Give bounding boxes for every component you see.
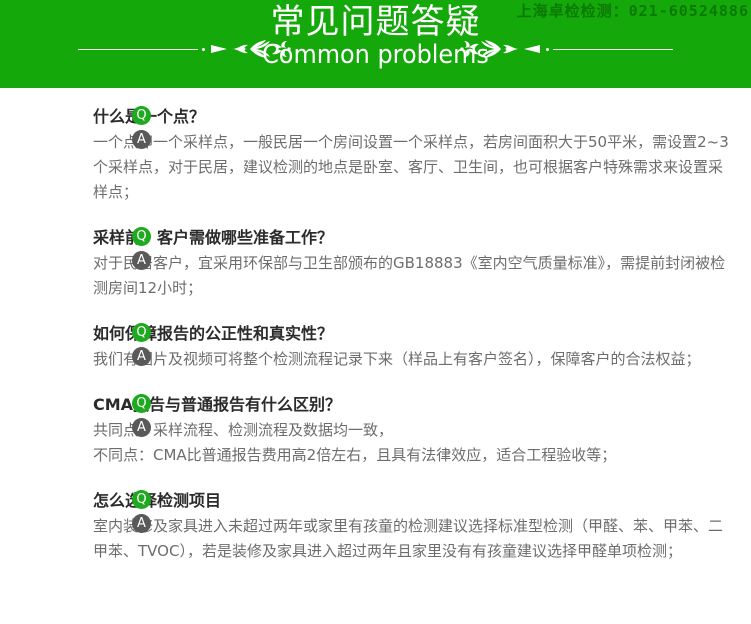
faq-question-row: Q CMA报告与普通报告有什么区别？ — [66, 394, 737, 415]
ornament-rule-left — [78, 49, 198, 50]
faq-answer-text: 我们有图片及视频可将整个检测流程记录下来（样品上有客户签名），保障客户的合法权益… — [93, 347, 737, 372]
faq-answer-row: A 一个点即一个采样点，一般民居一个房间设置一个采样点，若房间面积大于50平米，… — [66, 130, 737, 205]
faq-item: Q 采样前，客户需做哪些准备工作？ A 对于民居客户，宜采用环保部与卫生部颁布的… — [0, 227, 751, 301]
faq-list: Q 什么是一个点？ A 一个点即一个采样点，一般民居一个房间设置一个采样点，若房… — [0, 88, 751, 564]
answer-badge-icon: A — [132, 347, 151, 366]
question-badge-icon: Q — [132, 227, 151, 246]
faq-answer-row: A 我们有图片及视频可将整个检测流程记录下来（样品上有客户签名），保障客户的合法… — [66, 347, 737, 372]
faq-item: Q CMA报告与普通报告有什么区别？ A 共同点：采样流程、检测流程及数据均一致… — [0, 394, 751, 468]
ornament-rule-right — [553, 49, 673, 50]
faq-answer-text: 室内装修及家具进入未超过两年或家里有孩童的检测建议选择标准型检测（甲醛、苯、甲苯… — [93, 514, 737, 564]
faq-question-row: Q 怎么选择检测项目 — [66, 490, 737, 511]
faq-question-text: 采样前，客户需做哪些准备工作？ — [93, 227, 737, 248]
ornament-dot-right — [546, 48, 549, 51]
page-header-banner: 常见问题答疑 Common problems 上海卓检检测：021-605248… — [0, 0, 751, 88]
faq-question-row: Q 什么是一个点？ — [66, 106, 737, 127]
faq-question-text: 怎么选择检测项目 — [93, 490, 737, 511]
flourish-ornament-left-icon — [230, 38, 292, 60]
faq-answer-text: 对于民居客户，宜采用环保部与卫生部颁布的GB18883《室内空气质量标准》，需提… — [93, 251, 737, 301]
answer-badge-icon: A — [132, 130, 151, 149]
question-badge-icon: Q — [132, 106, 151, 125]
ornament-diamond-left — [211, 45, 227, 53]
faq-question-text: 如何保障报告的公正性和真实性？ — [93, 323, 737, 344]
faq-answer-row: A 室内装修及家具进入未超过两年或家里有孩童的检测建议选择标准型检测（甲醛、苯、… — [66, 514, 737, 564]
banner-inner: 常见问题答疑 Common problems 上海卓检检测：021-605248… — [0, 0, 751, 88]
ornament-diamond-right — [524, 45, 540, 53]
faq-item: Q 什么是一个点？ A 一个点即一个采样点，一般民居一个房间设置一个采样点，若房… — [0, 106, 751, 205]
faq-question-text: CMA报告与普通报告有什么区别？ — [93, 394, 737, 415]
question-badge-icon: Q — [132, 490, 151, 509]
faq-answer-text: 一个点即一个采样点，一般民居一个房间设置一个采样点，若房间面积大于50平米，需设… — [93, 130, 737, 205]
faq-item: Q 怎么选择检测项目 A 室内装修及家具进入未超过两年或家里有孩童的检测建议选择… — [0, 490, 751, 564]
ornament-left — [78, 38, 293, 60]
faq-answer-row: A 对于民居客户，宜采用环保部与卫生部颁布的GB18883《室内空气质量标准》，… — [66, 251, 737, 301]
faq-question-row: Q 如何保障报告的公正性和真实性？ — [66, 323, 737, 344]
faq-answer-text: 共同点：采样流程、检测流程及数据均一致， 不同点：CMA比普通报告费用高2倍左右… — [93, 418, 737, 468]
flourish-ornament-right-icon — [459, 38, 521, 60]
question-badge-icon: Q — [132, 394, 151, 413]
company-watermark: 上海卓检检测：021-60524886 — [517, 2, 749, 20]
faq-answer-row: A 共同点：采样流程、检测流程及数据均一致， 不同点：CMA比普通报告费用高2倍… — [66, 418, 737, 468]
faq-item: Q 如何保障报告的公正性和真实性？ A 我们有图片及视频可将整个检测流程记录下来… — [0, 323, 751, 372]
ornament-dot-left — [202, 48, 205, 51]
faq-question-text: 什么是一个点？ — [93, 106, 737, 127]
answer-badge-icon: A — [132, 251, 151, 270]
ornament-right — [458, 38, 673, 60]
answer-badge-icon: A — [132, 514, 151, 533]
answer-badge-icon: A — [132, 418, 151, 437]
question-badge-icon: Q — [132, 323, 151, 342]
faq-question-row: Q 采样前，客户需做哪些准备工作？ — [66, 227, 737, 248]
